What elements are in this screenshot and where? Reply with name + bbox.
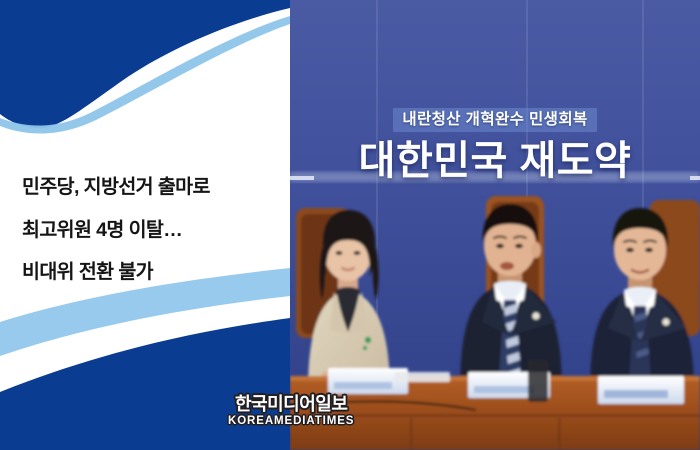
headline: 민주당, 지방선거 출마로 최고위원 4명 이탈… 비대위 전환 불가 xyxy=(22,178,280,283)
banner-backlight xyxy=(290,172,700,182)
press-conference-photo: 내란청산 개혁완수 민생회복 대한민국 재도약 xyxy=(290,0,700,450)
headline-line-3: 비대위 전환 불가 xyxy=(22,263,280,283)
banner-rule-left xyxy=(290,176,314,180)
headline-line-2: 최고위원 4명 이탈… xyxy=(22,221,280,241)
headline-line-1: 민주당, 지방선거 출마로 xyxy=(22,178,280,198)
nameplate xyxy=(598,376,684,404)
photo-illustration xyxy=(290,0,700,450)
top-navy-wave xyxy=(0,0,290,128)
banner-rule-right xyxy=(690,176,700,180)
left-text-panel: 민주당, 지방선거 출마로 최고위원 4명 이탈… 비대위 전환 불가 xyxy=(0,0,290,450)
news-card: 민주당, 지방선거 출마로 최고위원 4명 이탈… 비대위 전환 불가 xyxy=(0,0,700,450)
